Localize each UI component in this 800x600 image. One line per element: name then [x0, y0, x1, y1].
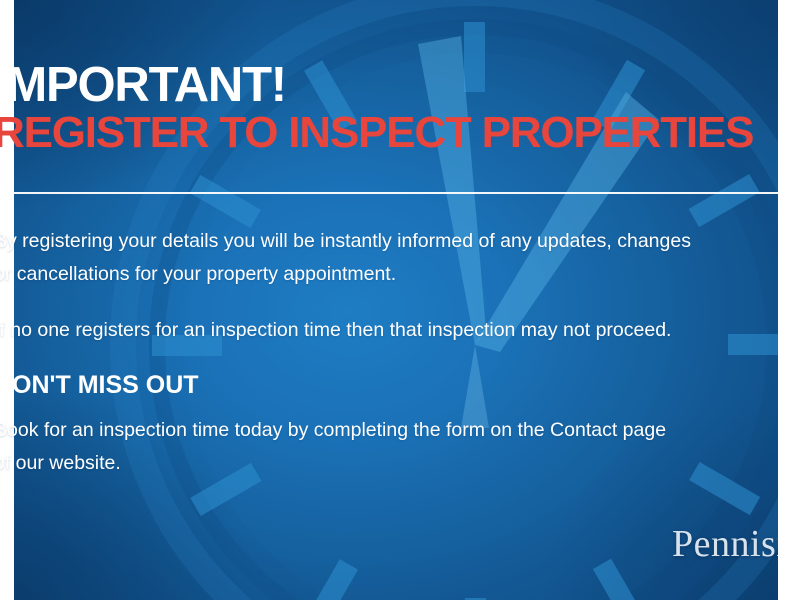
paragraph-one-line-one: By registering your details you will be … — [0, 225, 800, 258]
headline-important: IMPORTANT! — [0, 62, 800, 109]
header-divider — [14, 192, 778, 194]
subheading-dont-miss-out: DON'T MISS OUT — [0, 370, 800, 400]
paragraph-spacer — [0, 291, 800, 314]
body-copy-block: By registering your details you will be … — [0, 225, 800, 480]
pennisi-logo: Pennisi — [672, 522, 778, 566]
subheading-spacer — [0, 400, 800, 414]
paragraph-three-line-two: of our website. — [0, 447, 800, 480]
paragraph-three-line-one: Book for an inspection time today by com… — [0, 414, 800, 447]
headline-register-to-inspect: REGISTER TO INSPECT PROPERTIES — [0, 112, 800, 154]
paragraph-spacer — [0, 347, 800, 370]
promotional-slide: Pennisi IMPORTANT! REGISTER TO INSPECT P… — [0, 0, 800, 600]
paragraph-one-line-two: or cancellations for your property appoi… — [0, 258, 800, 291]
headline-block: IMPORTANT! REGISTER TO INSPECT PROPERTIE… — [0, 62, 800, 153]
paragraph-two-line-one: If no one registers for an inspection ti… — [0, 314, 800, 347]
